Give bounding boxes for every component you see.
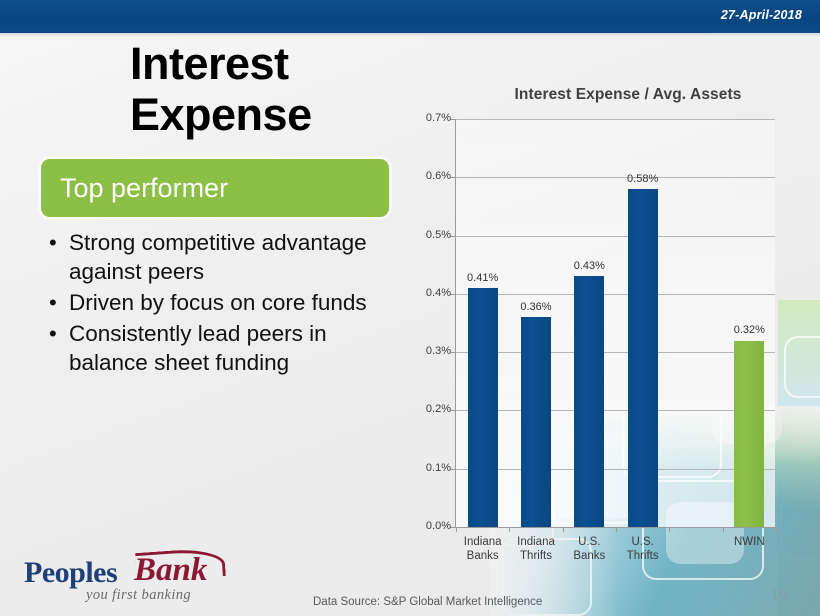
y-tick-label: 0.3% [405, 345, 451, 357]
logo-word-peoples: Peoples [24, 556, 117, 590]
chart-bar [574, 276, 604, 527]
bullet-icon: • [49, 288, 57, 317]
x-tick-label: U.S. [627, 535, 659, 549]
slide: 27-April-2018 Interest Expense Top perfo… [0, 0, 820, 616]
title-line-2: Expense [130, 89, 430, 140]
x-tick-label: Banks [573, 549, 605, 563]
list-item-text: Driven by focus on core funds [69, 290, 367, 315]
title-line-1: Interest [130, 38, 289, 89]
x-tick-label: NWIN [734, 535, 765, 549]
chart-bar-slot: 0.58% [616, 119, 669, 527]
x-tick-mark [776, 527, 777, 532]
list-item-text: Consistently lead peers in balance sheet… [69, 321, 327, 375]
logo-word-bank: Bank [134, 552, 207, 589]
y-tick-label: 0.2% [405, 403, 451, 415]
chart-bar [734, 341, 764, 528]
list-item: • Strong competitive advantage against p… [41, 228, 386, 286]
chart-data-label: 0.41% [467, 272, 498, 284]
list-item-text: Strong competitive advantage against pee… [69, 230, 367, 284]
chart-bar [521, 317, 551, 527]
bullet-list: • Strong competitive advantage against p… [41, 228, 386, 379]
chart-bars: 0.41%0.36%0.43%0.58%0.32% [456, 119, 775, 527]
x-tick-mark [669, 527, 670, 532]
x-category-label: NWIN [734, 535, 765, 549]
callout-label: Top performer [60, 172, 228, 204]
callout-banner: Top performer [41, 159, 389, 217]
logo-tagline: you first banking [86, 587, 191, 604]
y-tick-label: 0.7% [405, 112, 451, 124]
x-tick-label: Thrifts [627, 549, 659, 563]
x-tick-label: Thrifts [517, 549, 555, 563]
y-tick-label: 0.4% [405, 287, 451, 299]
y-tick-label: 0.0% [405, 520, 451, 532]
chart-bar-slot [669, 119, 722, 527]
chart-data-label: 0.36% [520, 301, 551, 313]
chart-bar-slot: 0.32% [723, 119, 776, 527]
x-tick-label: Indiana [464, 535, 502, 549]
chart-bar-slot: 0.43% [563, 119, 616, 527]
x-tick-mark [616, 527, 617, 532]
bullet-icon: • [49, 319, 57, 348]
page-title: Interest Expense [130, 38, 430, 140]
y-tick-label: 0.5% [405, 229, 451, 241]
list-item: • Driven by focus on core funds [41, 288, 386, 317]
x-tick-label: U.S. [573, 535, 605, 549]
chart-bar-slot: 0.41% [456, 119, 509, 527]
header-bar: 27-April-2018 [0, 0, 820, 33]
header-edge [0, 33, 820, 37]
chart-bar [628, 189, 658, 527]
chart-plot-area: 0.7%0.6%0.5%0.4%0.3%0.2%0.1%0.0% 0.41%0.… [455, 119, 775, 603]
bullet-icon: • [49, 228, 57, 257]
chart-title: Interest Expense / Avg. Assets [453, 86, 803, 104]
x-category-label: IndianaThrifts [517, 535, 555, 563]
logo: Peoples Bank you first banking [24, 554, 204, 600]
y-tick-label: 0.1% [405, 462, 451, 474]
chart-data-label: 0.58% [627, 173, 658, 185]
chart-bar-slot: 0.36% [509, 119, 562, 527]
x-tick-label: Banks [464, 549, 502, 563]
x-tick-mark [509, 527, 510, 532]
slide-date: 27-April-2018 [721, 8, 802, 22]
x-category-label: IndianaBanks [464, 535, 502, 563]
bar-chart: Interest Expense / Avg. Assets 0.7%0.6%0… [413, 78, 805, 578]
x-tick-label: Indiana [517, 535, 555, 549]
x-category-label: U.S.Banks [573, 535, 605, 563]
chart-bar [468, 288, 498, 527]
chart-data-label: 0.43% [574, 260, 605, 272]
x-category-label: U.S.Thrifts [627, 535, 659, 563]
x-tick-mark [456, 527, 457, 532]
x-tick-mark [563, 527, 564, 532]
chart-data-label: 0.32% [734, 324, 765, 336]
y-tick-label: 0.6% [405, 170, 451, 182]
x-tick-mark [723, 527, 724, 532]
list-item: • Consistently lead peers in balance she… [41, 319, 386, 377]
